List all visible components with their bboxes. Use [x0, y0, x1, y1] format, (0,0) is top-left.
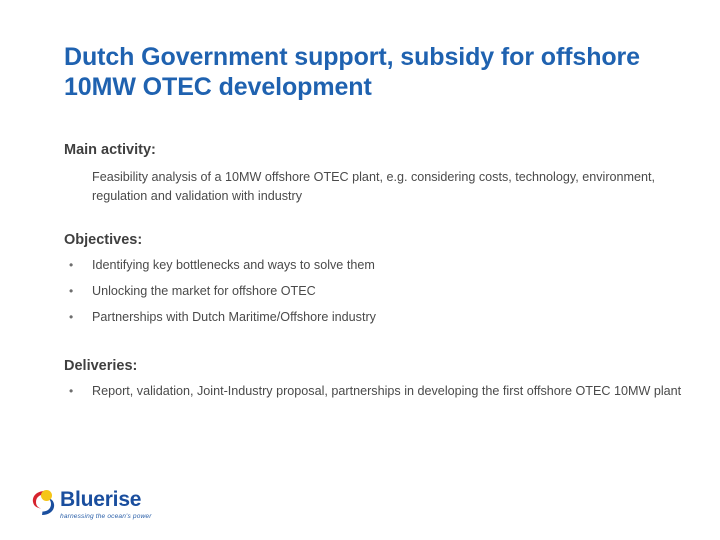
bullet-list-deliveries: • Report, validation, Joint-Industry pro… — [64, 382, 664, 401]
slide-canvas: Dutch Government support, subsidy for of… — [0, 0, 720, 540]
bullet-dot-icon: • — [69, 256, 73, 275]
section-heading-objectives: Objectives: — [64, 230, 664, 250]
brand-logo: Bluerise harnessing the ocean's power — [30, 487, 152, 521]
bullet-list-objectives: • Identifying key bottlenecks and ways t… — [64, 256, 664, 327]
section-paragraph-main-activity: Feasibility analysis of a 10MW offshore … — [92, 168, 670, 206]
page-title: Dutch Government support, subsidy for of… — [64, 42, 700, 102]
section-main-activity: Main activity: Feasibility analysis of a… — [64, 140, 664, 206]
logo-text-group: Bluerise harnessing the ocean's power — [60, 487, 152, 521]
list-item: • Partnerships with Dutch Maritime/Offsh… — [64, 308, 692, 327]
bullet-dot-icon: • — [69, 308, 73, 327]
section-heading-main-activity: Main activity: — [64, 140, 664, 160]
section-heading-deliveries: Deliveries: — [64, 356, 664, 376]
spacer — [64, 334, 664, 356]
bullet-dot-icon: • — [69, 282, 73, 301]
list-item-label: Identifying key bottlenecks and ways to … — [92, 258, 375, 272]
list-item: • Report, validation, Joint-Industry pro… — [64, 382, 692, 401]
logo-tagline: harnessing the ocean's power — [60, 512, 152, 521]
section-objectives: Objectives: • Identifying key bottleneck… — [64, 230, 664, 327]
section-deliveries: Deliveries: • Report, validation, Joint-… — [64, 356, 664, 401]
list-item-label: Partnerships with Dutch Maritime/Offshor… — [92, 310, 376, 324]
list-item-label: Unlocking the market for offshore OTEC — [92, 284, 316, 298]
spacer — [64, 206, 664, 230]
logo-wordmark: Bluerise — [60, 489, 152, 511]
list-item-label: Report, validation, Joint-Industry propo… — [92, 384, 681, 398]
slide-body: Main activity: Feasibility analysis of a… — [64, 140, 664, 408]
list-item: • Identifying key bottlenecks and ways t… — [64, 256, 692, 275]
bullet-dot-icon: • — [69, 382, 73, 401]
bluerise-swirl-icon — [30, 487, 56, 519]
list-item: • Unlocking the market for offshore OTEC — [64, 282, 692, 301]
